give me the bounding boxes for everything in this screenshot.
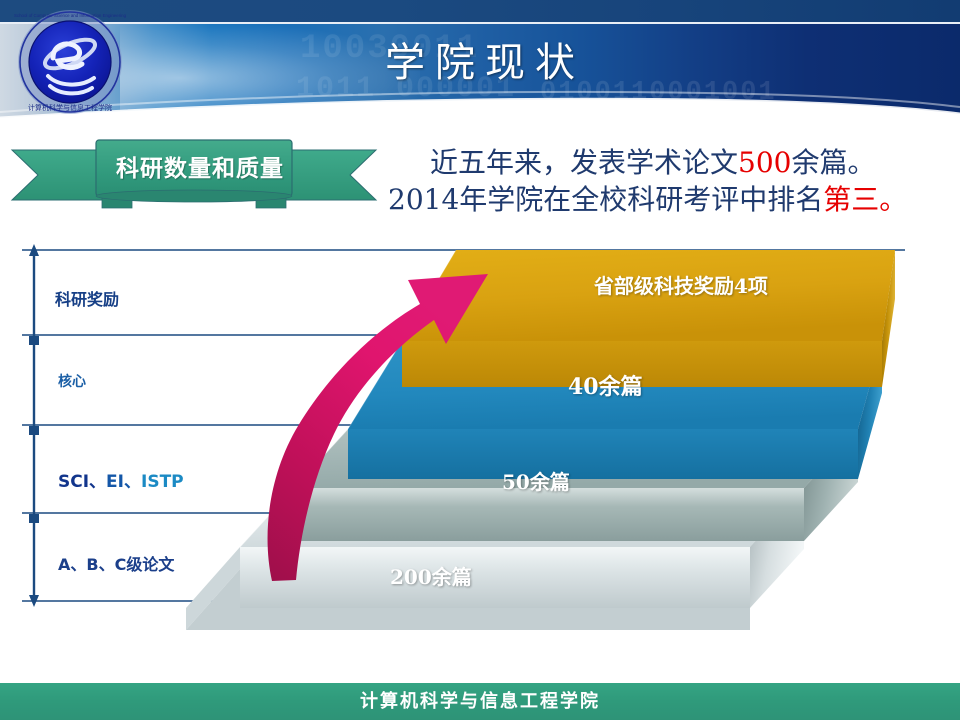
headline-line-2: 2014年学院在全校科研考评中排名第三。: [388, 181, 960, 218]
headline-line2-part-a: 2014年学院在全校科研考评中排名: [388, 183, 823, 216]
svg-text:计算机科学与信息工程学院: 计算机科学与信息工程学院: [28, 103, 112, 112]
section-ribbon-label: 科研数量和质量: [95, 146, 305, 194]
category-label-1: 核心: [58, 371, 86, 391]
step-value-label-3: 200余篇: [390, 561, 472, 590]
school-logo-icon: School of Computer Science and Informati…: [14, 6, 126, 118]
svg-text:School of Computer Science and: School of Computer Science and Informati…: [14, 13, 126, 18]
step-value-label-0: 省部级科技奖励4项: [594, 270, 768, 299]
category-label-2: SCI、EI、ISTP: [58, 467, 184, 492]
slide-header: 10030011 1011 000001 0100110001001 学院现状: [0, 0, 960, 132]
category-label-0: 科研奖励: [55, 286, 119, 310]
headline-line2-part-b: 。: [879, 183, 907, 216]
headline-line1-part-a: 近五年来，发表学术论文: [430, 146, 738, 179]
step-value-label-2: 50余篇: [502, 466, 570, 495]
page-title: 学院现状: [0, 30, 960, 88]
category-label-2-sep1: 、: [89, 472, 106, 492]
headline-line1-highlight: 500: [738, 146, 791, 179]
step-value-label-1: 40余篇: [568, 369, 643, 401]
staircase-chart: [0, 236, 960, 636]
footer-school-name: 计算机科学与信息工程学院: [0, 683, 960, 720]
category-label-2-istp: ISTP: [141, 472, 184, 492]
headline-line1-part-b: 余篇。: [791, 146, 875, 179]
headline-text-block: 近五年来，发表学术论文500余篇。 2014年学院在全校科研考评中排名第三。: [388, 144, 960, 218]
headline-line-1: 近五年来，发表学术论文500余篇。: [388, 144, 960, 181]
category-label-2-sci: SCI: [58, 472, 89, 492]
category-label-2-sep2: 、: [124, 472, 141, 492]
slide-footer: 计算机科学与信息工程学院: [0, 683, 960, 720]
headline-line2-highlight: 第三: [823, 183, 879, 216]
slide-root: 10030011 1011 000001 0100110001001 学院现状: [0, 0, 960, 720]
category-label-3: A、B、C级论文: [58, 551, 174, 575]
category-label-2-ei: EI: [106, 472, 124, 492]
